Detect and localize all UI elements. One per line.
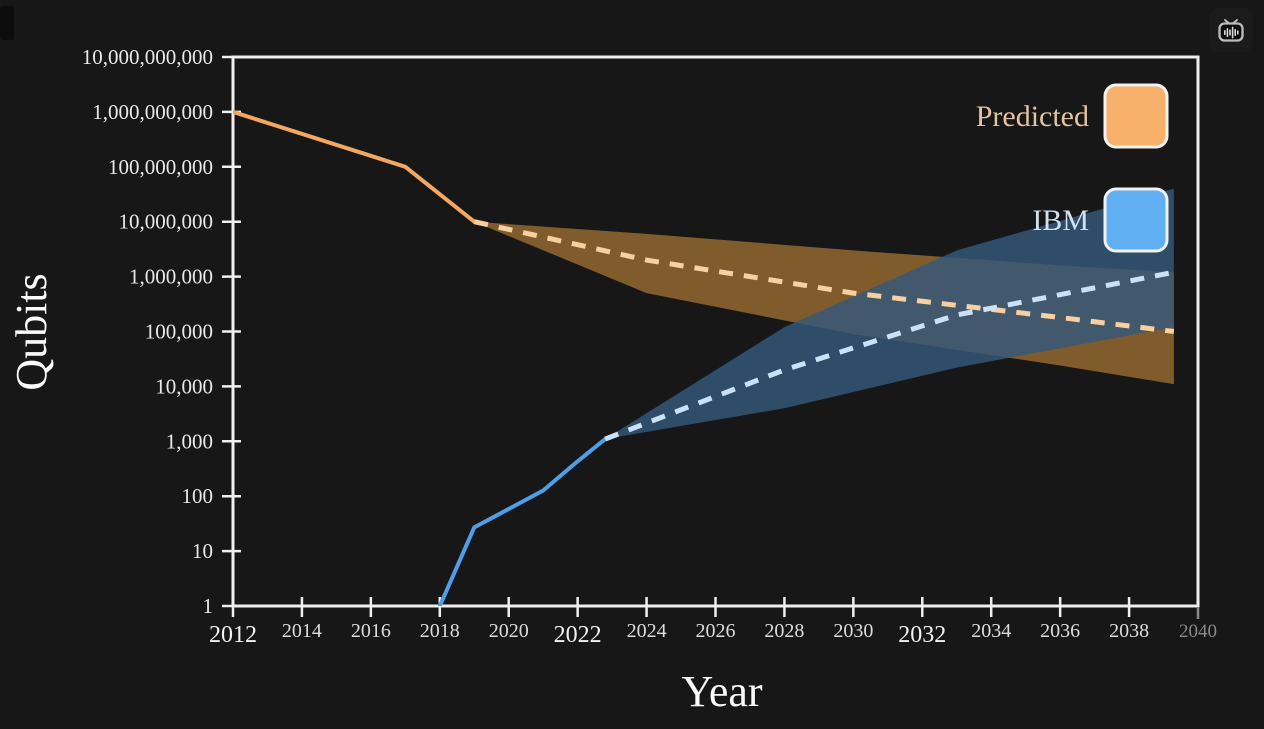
ibm-historical-line (440, 439, 605, 606)
y-tick-label: 10,000,000 (119, 210, 214, 234)
y-tick-label: 10,000 (155, 374, 213, 398)
qubits-forecast-chart: 1101001,00010,000100,0001,000,00010,000,… (0, 0, 1264, 729)
y-tick-label: 100,000,000 (108, 155, 213, 179)
chart-legend: Predicted IBM (976, 85, 1167, 251)
legend-label-predicted: Predicted (976, 100, 1089, 133)
x-tick-label: 2018 (420, 620, 460, 642)
x-tick-label: 2016 (351, 620, 391, 642)
y-tick-label: 1,000,000,000 (92, 100, 213, 124)
predicted-swatch[interactable] (1105, 85, 1167, 147)
screen: 1101001,00010,000100,0001,000,00010,000,… (0, 0, 1264, 729)
x-tick-label: 2032 (898, 622, 946, 648)
y-axis-tick-labels: 1101001,00010,000100,0001,000,00010,000,… (82, 45, 213, 618)
y-axis-title: Qubits (7, 273, 56, 390)
x-tick-label: 2022 (554, 622, 602, 648)
x-tick-label: 2034 (971, 620, 1011, 642)
y-tick-label: 1 (203, 594, 214, 618)
x-tick-label: 2026 (696, 620, 736, 642)
x-tick-label: 2024 (627, 620, 667, 642)
x-axis-title: Year (681, 667, 762, 716)
x-tick-label: 2030 (833, 620, 873, 642)
predicted-historical-line (233, 112, 474, 222)
y-tick-label: 1,000 (166, 429, 213, 453)
ibm-swatch[interactable] (1105, 189, 1167, 251)
x-axis-tick-labels: 2012201420162018202020222024202620282030… (209, 620, 1217, 648)
x-tick-label: 2040 (1179, 621, 1217, 642)
y-tick-label: 100 (182, 484, 214, 508)
x-tick-label: 2028 (764, 620, 804, 642)
x-axis-ticks (233, 597, 1198, 619)
x-tick-label: 2012 (209, 622, 257, 648)
x-tick-label: 2014 (282, 620, 322, 642)
y-tick-label: 100,000 (145, 320, 213, 344)
x-tick-label: 2036 (1040, 620, 1080, 642)
legend-label-ibm: IBM (1032, 204, 1089, 237)
x-tick-label: 2020 (489, 620, 529, 642)
y-tick-label: 10 (192, 539, 213, 563)
x-tick-label: 2038 (1109, 620, 1149, 642)
y-tick-label: 1,000,000 (129, 265, 213, 289)
y-tick-label: 10,000,000,000 (82, 45, 213, 69)
